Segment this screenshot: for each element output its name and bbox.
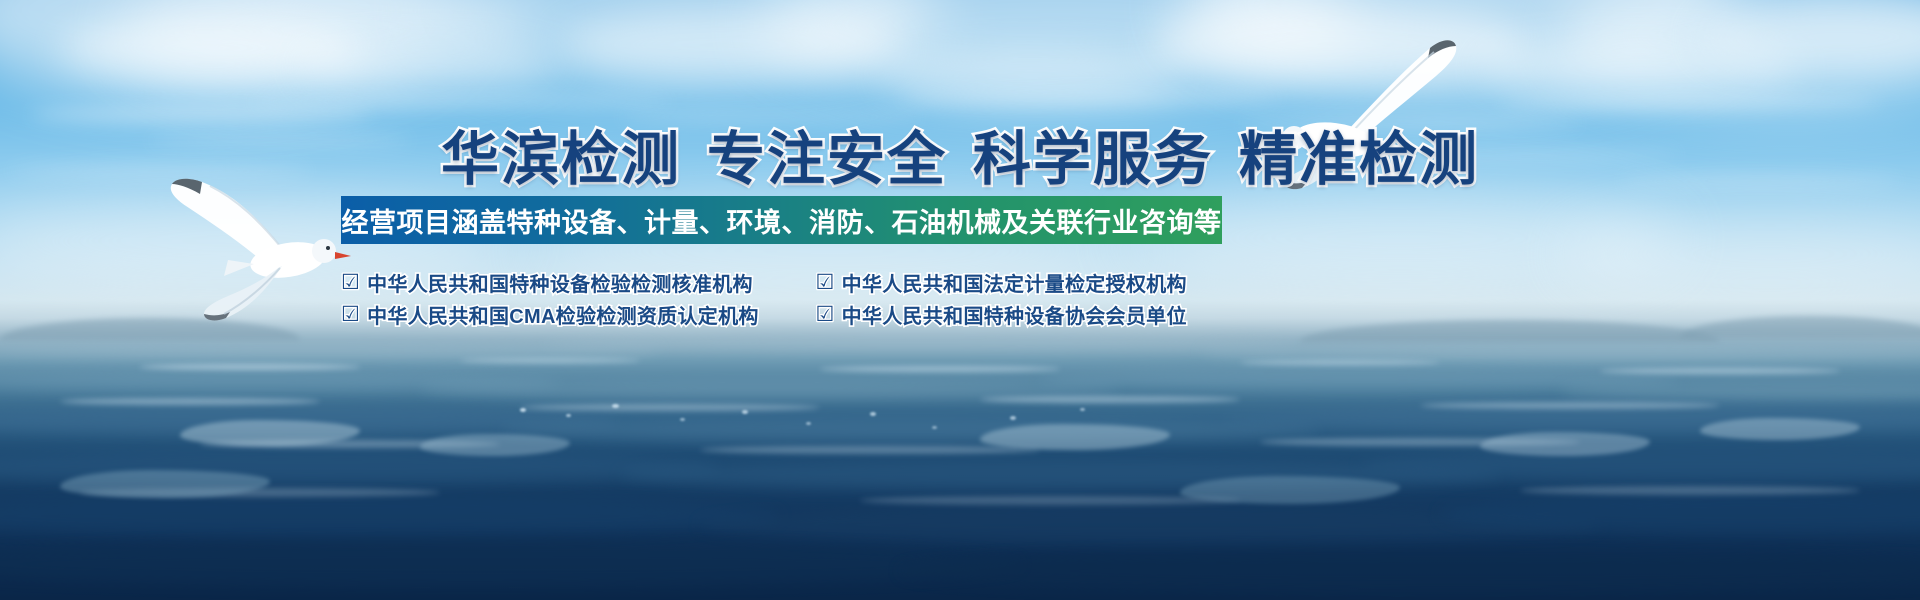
headline-part-3: 科学服务 (973, 127, 1213, 192)
certification-label: 中华人民共和国CMA检验检测资质认定机构 (367, 300, 759, 329)
subtitle-bar: 经营项目涵盖特种设备、计量、环境、消防、石油机械及关联行业咨询等 (341, 196, 1222, 244)
headline-part-1: 华滨检测 (441, 127, 681, 192)
certification-list: ☑ 中华人民共和国特种设备检验检测核准机构 ☑ 中华人民共和国法定计量检定授权机… (341, 266, 1222, 330)
checked-checkbox-icon: ☑ (816, 272, 835, 293)
hero-banner: 华滨检测专注安全科学服务精准检测 经营项目涵盖特种设备、计量、环境、消防、石油机… (0, 0, 1920, 600)
checked-checkbox-icon: ☑ (816, 304, 835, 325)
certification-item-2: ☑ 中华人民共和国法定计量检定授权机构 (782, 266, 1223, 298)
page-title: 华滨检测专注安全科学服务精准检测 (0, 128, 1920, 192)
certification-item-4: ☑ 中华人民共和国特种设备协会会员单位 (782, 298, 1223, 330)
certification-label: 中华人民共和国特种设备检验检测核准机构 (367, 268, 753, 297)
certification-item-1: ☑ 中华人民共和国特种设备检验检测核准机构 (341, 266, 782, 298)
subtitle-text: 经营项目涵盖特种设备、计量、环境、消防、石油机械及关联行业咨询等 (342, 201, 1222, 240)
certification-item-3: ☑ 中华人民共和国CMA检验检测资质认定机构 (341, 298, 782, 330)
certification-label: 中华人民共和国法定计量检定授权机构 (842, 268, 1187, 297)
checked-checkbox-icon: ☑ (341, 304, 360, 325)
headline-part-2: 专注安全 (707, 127, 947, 192)
certification-label: 中华人民共和国特种设备协会会员单位 (842, 300, 1187, 329)
checked-checkbox-icon: ☑ (341, 272, 360, 293)
banner-content: 华滨检测专注安全科学服务精准检测 经营项目涵盖特种设备、计量、环境、消防、石油机… (0, 0, 1920, 600)
headline-part-4: 精准检测 (1239, 127, 1479, 192)
